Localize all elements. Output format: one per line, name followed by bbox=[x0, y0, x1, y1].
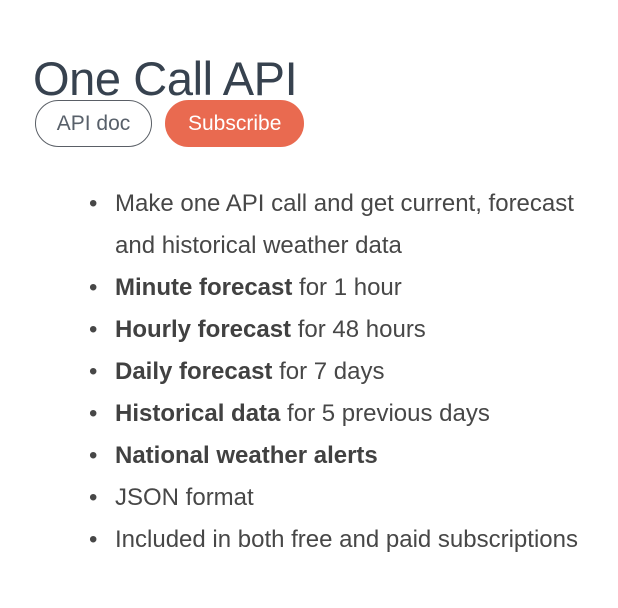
list-item-text: for 7 days bbox=[272, 358, 384, 385]
list-item-lead: National weather alerts bbox=[115, 442, 378, 469]
bullet-icon: • bbox=[89, 351, 97, 393]
bullet-icon: • bbox=[89, 519, 97, 561]
list-item-text: JSON format bbox=[115, 484, 254, 511]
list-item: •Included in both free and paid subscrip… bbox=[0, 519, 618, 561]
list-item-text: Included in both free and paid subscript… bbox=[115, 526, 578, 553]
list-item-lead: Daily forecast bbox=[115, 358, 272, 385]
bullet-icon: • bbox=[89, 393, 97, 435]
list-item: •Hourly forecast for 48 hours bbox=[0, 309, 618, 351]
page-title: One Call API bbox=[33, 51, 297, 106]
list-item-lead: Minute forecast bbox=[115, 274, 292, 301]
list-item-text: for 5 previous days bbox=[280, 400, 489, 427]
feature-list: •Make one API call and get current, fore… bbox=[0, 183, 618, 561]
list-item: •National weather alerts bbox=[0, 435, 618, 477]
bullet-icon: • bbox=[89, 183, 97, 225]
action-button-row: API doc Subscribe bbox=[35, 100, 304, 147]
bullet-icon: • bbox=[89, 267, 97, 309]
list-item-text: for 1 hour bbox=[292, 274, 401, 301]
api-doc-button[interactable]: API doc bbox=[35, 100, 152, 147]
list-item-lead: Historical data bbox=[115, 400, 280, 427]
one-call-api-panel: One Call API API doc Subscribe •Make one… bbox=[0, 0, 618, 608]
list-item: •Historical data for 5 previous days bbox=[0, 393, 618, 435]
list-item: •Daily forecast for 7 days bbox=[0, 351, 618, 393]
bullet-icon: • bbox=[89, 309, 97, 351]
list-item-text: for 48 hours bbox=[291, 316, 426, 343]
list-item-text: Make one API call and get current, forec… bbox=[115, 190, 574, 259]
list-item: •Minute forecast for 1 hour bbox=[0, 267, 618, 309]
list-item: •Make one API call and get current, fore… bbox=[0, 183, 618, 267]
list-item-lead: Hourly forecast bbox=[115, 316, 291, 343]
list-item: •JSON format bbox=[0, 477, 618, 519]
bullet-icon: • bbox=[89, 435, 97, 477]
subscribe-button[interactable]: Subscribe bbox=[165, 100, 304, 147]
bullet-icon: • bbox=[89, 477, 97, 519]
